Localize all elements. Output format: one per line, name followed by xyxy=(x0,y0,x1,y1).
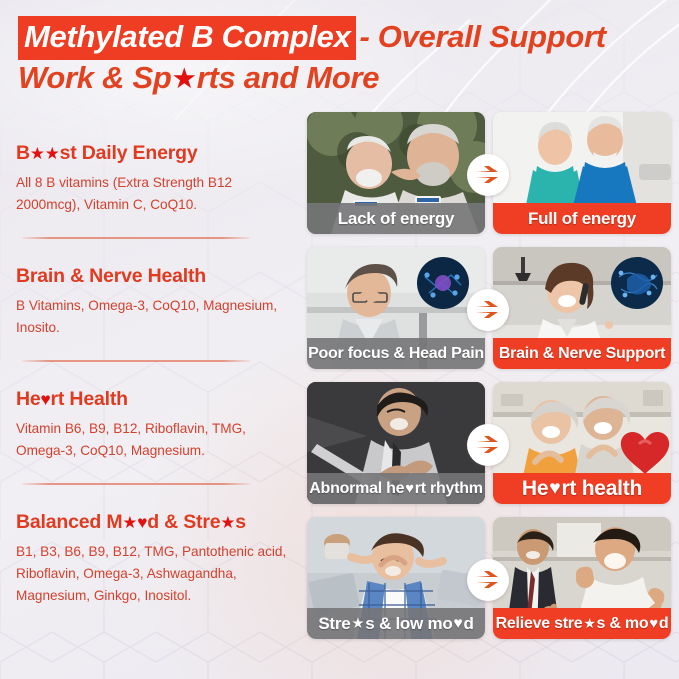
heart-icon: ♥ xyxy=(453,615,464,633)
star-icon: ★ xyxy=(350,615,365,632)
after-caption-brain: Brain & Nerve Support xyxy=(493,338,671,369)
caption-text: Relieve stre xyxy=(496,615,583,633)
before-caption-energy: Lack of energy xyxy=(307,203,485,234)
benefit-title-text: st Daily Energy xyxy=(60,142,198,164)
header-line-2-pre: Work & Sp xyxy=(18,60,171,95)
header-line-1-rest: - Overall Support xyxy=(356,17,605,57)
heart-icon: ♥ xyxy=(41,389,51,409)
benefit-title-text: Brain & Nerve Health xyxy=(16,265,206,287)
before-caption-brain: Poor focus & Head Pain xyxy=(307,338,485,369)
after-card-brain: Brain & Nerve Support xyxy=(493,247,671,369)
benefit-body-brain: B Vitamins, Omega-3, CoQ10, Magnesium, I… xyxy=(16,295,294,339)
benefit-block-energy: B★★st Daily Energy All 8 B vitamins (Ext… xyxy=(16,142,294,216)
star-icon: ★ xyxy=(30,144,45,163)
comparison-grid: Lack of energy xyxy=(307,108,673,648)
header-line-2-post: rts and More xyxy=(197,60,379,95)
benefit-title-heart: He♥rt Health xyxy=(16,388,294,411)
benefit-body-mood: B1, B3, B6, B9, B12, TMG, Pantothenic ac… xyxy=(16,541,308,607)
infographic-page: Methylated B Complex- Overall Support Wo… xyxy=(0,0,679,679)
benefit-title-text: Balanced M xyxy=(16,511,122,533)
before-card-heart: Abnormal he♥rt rhythm xyxy=(307,382,485,504)
double-arrow-right-icon xyxy=(475,570,501,590)
after-caption-mood: Relieve stre★s & mo♥d xyxy=(493,608,671,639)
header-line-2: Work & Sp★rts and More xyxy=(18,58,379,99)
caption-text: d xyxy=(659,615,669,633)
header-line-1: Methylated B Complex- Overall Support xyxy=(18,16,606,60)
transition-arrow-brain xyxy=(467,289,509,331)
transition-arrow-energy xyxy=(467,154,509,196)
benefit-block-heart: He♥rt Health Vitamin B6, B9, B12, Ribofl… xyxy=(16,388,294,462)
product-name-highlight: Methylated B Complex xyxy=(18,16,356,60)
star-icon: ★ xyxy=(171,59,196,99)
double-arrow-right-icon xyxy=(475,165,501,185)
benefit-block-mood: Balanced M★♥d & Stre★s B1, B3, B6, B9, B… xyxy=(16,511,308,607)
benefit-title-text: d & Stre xyxy=(147,511,220,533)
caption-text: s & low mo xyxy=(365,614,452,634)
heart-icon: ♥ xyxy=(404,481,415,497)
heart-icon: ♥ xyxy=(548,478,561,500)
benefit-body-heart: Vitamin B6, B9, B12, Riboflavin, TMG, Om… xyxy=(16,418,294,462)
double-arrow-right-icon xyxy=(475,435,501,455)
divider xyxy=(22,360,250,362)
benefit-body-energy: All 8 B vitamins (Extra Strength B12 200… xyxy=(16,172,294,216)
after-caption-heart: He♥rt health xyxy=(493,473,671,504)
heart-icon: ♥ xyxy=(648,616,659,632)
caption-text: rt rhythm xyxy=(415,480,483,498)
caption-text: rt health xyxy=(561,477,642,501)
after-card-heart: He♥rt health xyxy=(493,382,671,504)
caption-text: d xyxy=(464,614,474,634)
benefit-title-text: s xyxy=(235,511,246,533)
divider xyxy=(22,237,250,239)
benefit-title-energy: B★★st Daily Energy xyxy=(16,142,294,165)
after-card-energy: Full of energy xyxy=(493,112,671,234)
double-arrow-right-icon xyxy=(475,300,501,320)
benefit-block-brain: Brain & Nerve Health B Vitamins, Omega-3… xyxy=(16,265,294,339)
caption-text: He xyxy=(522,477,548,501)
star-icon: ★ xyxy=(122,513,137,532)
benefits-column: B★★st Daily Energy All 8 B vitamins (Ext… xyxy=(0,104,300,679)
comparison-row-energy: Lack of energy xyxy=(307,108,673,241)
transition-arrow-mood xyxy=(467,559,509,601)
heart-icon: ♥ xyxy=(137,512,147,532)
benefit-title-text: He xyxy=(16,388,41,410)
caption-text: Stre xyxy=(318,614,350,634)
star-icon: ★ xyxy=(220,513,235,532)
transition-arrow-heart xyxy=(467,424,509,466)
star-icon: ★ xyxy=(582,616,596,632)
benefit-title-mood: Balanced M★♥d & Stre★s xyxy=(16,511,308,534)
before-card-energy: Lack of energy xyxy=(307,112,485,234)
caption-text: s & mo xyxy=(597,615,649,633)
divider xyxy=(22,483,250,485)
before-card-brain: Poor focus & Head Pain xyxy=(307,247,485,369)
benefit-title-brain: Brain & Nerve Health xyxy=(16,265,294,288)
comparison-row-heart: Abnormal he♥rt rhythm xyxy=(307,378,673,511)
before-caption-heart: Abnormal he♥rt rhythm xyxy=(307,473,485,504)
benefit-title-text: B xyxy=(16,142,30,164)
comparison-row-mood: Stre★s & low mo♥d xyxy=(307,513,673,646)
caption-text: Abnormal he xyxy=(309,480,404,498)
benefit-title-text: rt Health xyxy=(51,388,128,410)
before-caption-mood: Stre★s & low mo♥d xyxy=(307,608,485,639)
comparison-row-brain: Poor focus & Head Pain xyxy=(307,243,673,376)
header: Methylated B Complex- Overall Support Wo… xyxy=(0,0,679,104)
before-card-mood: Stre★s & low mo♥d xyxy=(307,517,485,639)
after-caption-energy: Full of energy xyxy=(493,203,671,234)
star-icon: ★ xyxy=(45,144,60,163)
after-card-mood: Relieve stre★s & mo♥d xyxy=(493,517,671,639)
